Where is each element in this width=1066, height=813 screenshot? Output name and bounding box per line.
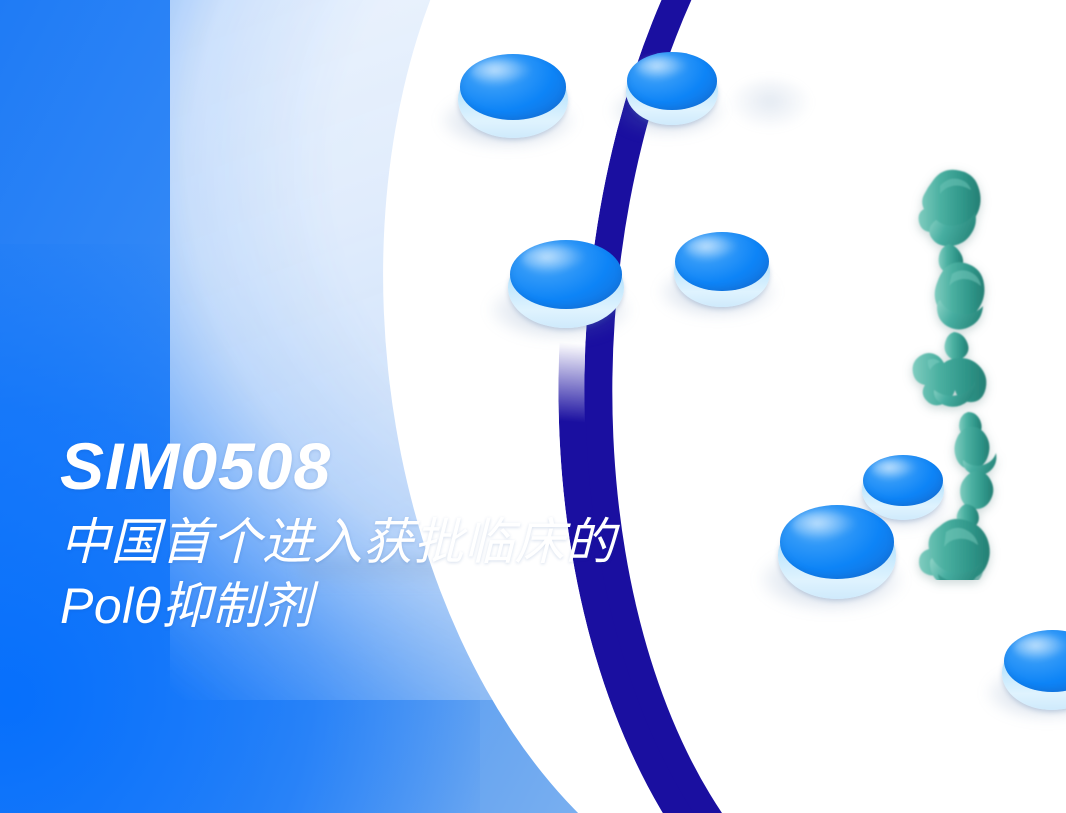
pill-tablet (1002, 630, 1066, 708)
subtitle-line-2: Polθ抑制剂 (60, 575, 880, 637)
poster-canvas: SIM0508 中国首个进入获批临床的 Polθ抑制剂 (0, 0, 1066, 813)
page-title: SIM0508 (60, 432, 880, 501)
pill-tablet (458, 54, 568, 136)
pill-tablet (626, 52, 718, 124)
protein-structure-icon (888, 160, 1066, 580)
pill-highlight (1014, 635, 1066, 660)
pill-highlight (686, 236, 740, 260)
subtitle-line-1: 中国首个进入获批临床的 (60, 511, 880, 573)
pill-tablet (674, 232, 770, 306)
pill-highlight (522, 245, 587, 273)
pill-shadow-decor (728, 78, 812, 130)
pill-highlight (471, 59, 533, 85)
pill-highlight (637, 56, 689, 79)
pill-tablet (508, 240, 624, 326)
poster-copy: SIM0508 中国首个进入获批临床的 Polθ抑制剂 (60, 432, 880, 637)
